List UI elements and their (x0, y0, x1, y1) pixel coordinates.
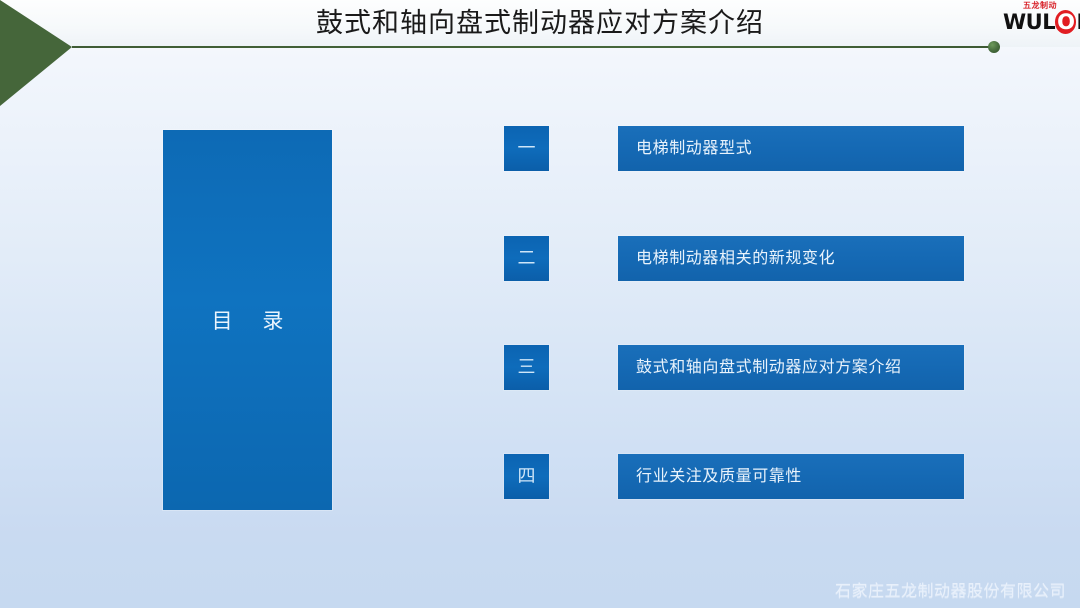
logo-wordmark-o: O (1055, 10, 1076, 34)
list-item-number-badge: 二 (504, 236, 549, 281)
list-item-label: 行业关注及质量可靠性 (636, 454, 956, 499)
logo-wordmark: WULON (1003, 11, 1077, 34)
footer-company-name: 石家庄五龙制动器股份有限公司 (835, 581, 1066, 603)
table-of-contents-list: 一 电梯制动器型式 二 电梯制动器相关的新规变化 三 鼓式和轴向盘式制动器应对方… (504, 126, 964, 516)
list-item[interactable]: 二 电梯制动器相关的新规变化 (504, 236, 964, 281)
slide-canvas: 鼓式和轴向盘式制动器应对方案介绍 五龙制动 WULON 目 录 一 电梯制动器型… (0, 0, 1080, 608)
logo-wordmark-suffix: N (1076, 10, 1080, 34)
table-of-contents-panel: 目 录 (163, 130, 332, 510)
list-item-number-badge: 四 (504, 454, 549, 499)
list-item-bar[interactable]: 行业关注及质量可靠性 (618, 454, 964, 499)
list-item-label: 鼓式和轴向盘式制动器应对方案介绍 (636, 345, 956, 390)
list-item-label: 电梯制动器相关的新规变化 (636, 236, 956, 281)
list-item-bar[interactable]: 鼓式和轴向盘式制动器应对方案介绍 (618, 345, 964, 390)
list-item[interactable]: 三 鼓式和轴向盘式制动器应对方案介绍 (504, 345, 964, 390)
table-of-contents-label: 目 录 (163, 305, 332, 335)
company-logo: 五龙制动 WULON (1003, 1, 1077, 41)
list-item-number-badge: 一 (504, 126, 549, 171)
list-item[interactable]: 四 行业关注及质量可靠性 (504, 454, 964, 499)
page-title: 鼓式和轴向盘式制动器应对方案介绍 (0, 2, 1080, 44)
list-item-bar[interactable]: 电梯制动器型式 (618, 126, 964, 171)
list-item[interactable]: 一 电梯制动器型式 (504, 126, 964, 171)
list-item-number-badge: 三 (504, 345, 549, 390)
list-item-bar[interactable]: 电梯制动器相关的新规变化 (618, 236, 964, 281)
logo-wordmark-prefix: WUL (1003, 10, 1055, 34)
slide-header: 鼓式和轴向盘式制动器应对方案介绍 五龙制动 WULON (0, 0, 1080, 62)
header-divider-line (72, 46, 996, 48)
list-item-label: 电梯制动器型式 (636, 126, 956, 171)
